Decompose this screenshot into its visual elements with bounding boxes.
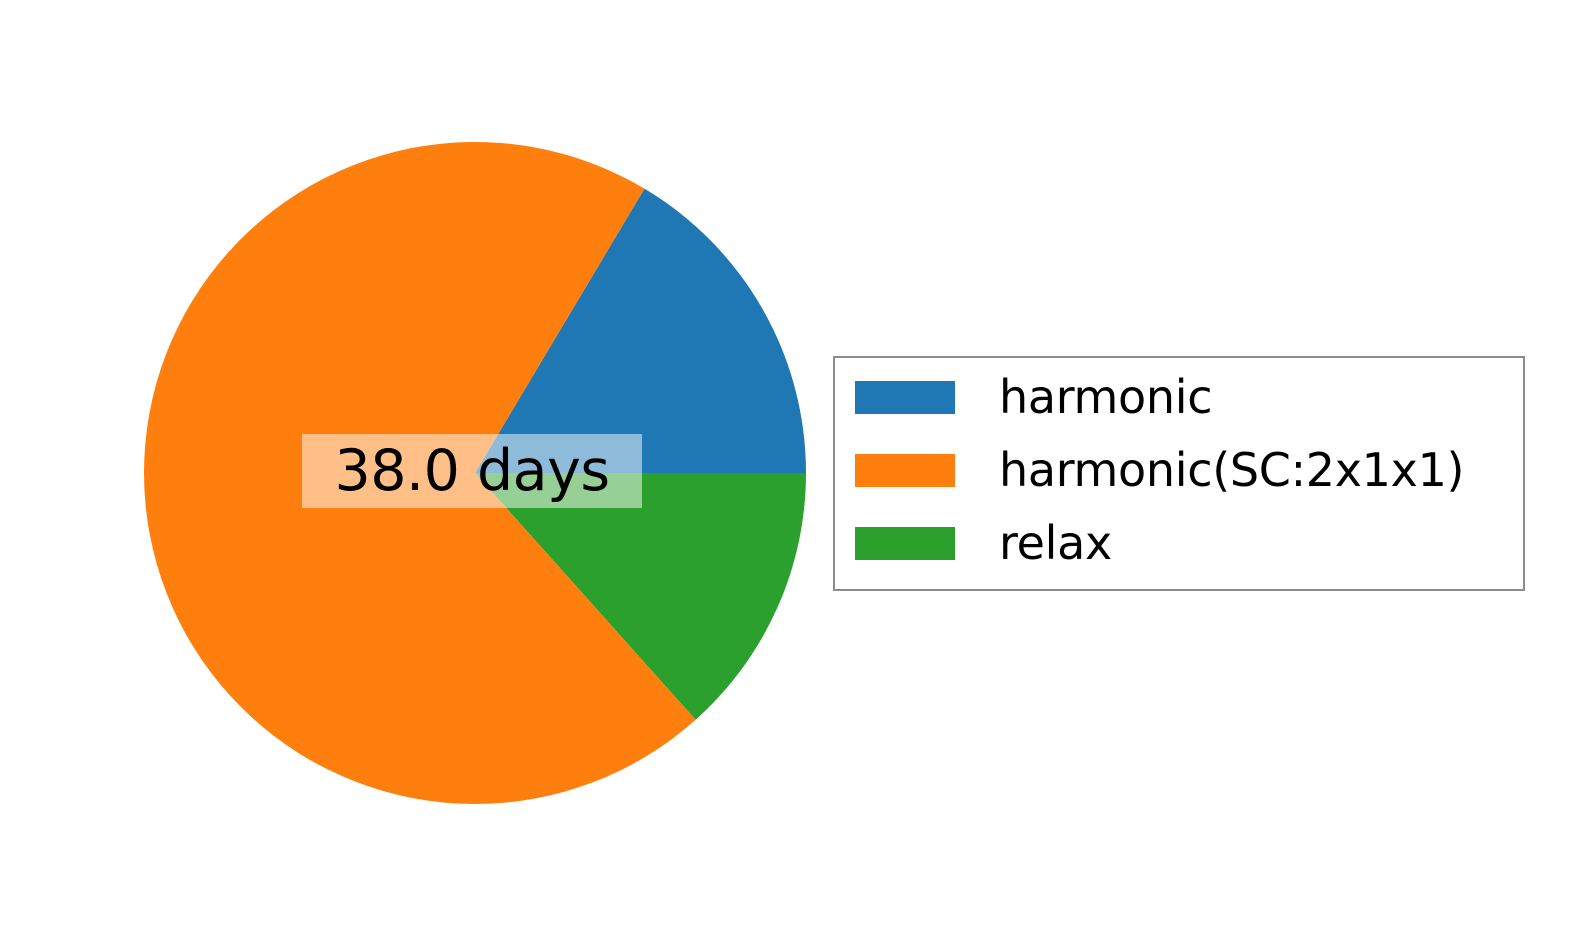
pie-chart-figure: 38.0 days harmonic harmonic(SC:2x1x1) re… [0, 0, 1584, 951]
legend-entry-relax[interactable]: relax [855, 526, 1112, 560]
legend-swatch-icon-harmonic [855, 381, 955, 414]
legend-box: harmonic harmonic(SC:2x1x1) relax [833, 356, 1525, 591]
legend-entry-harmonic-sc[interactable]: harmonic(SC:2x1x1) [855, 453, 1464, 487]
legend-items: harmonic harmonic(SC:2x1x1) relax [835, 358, 1523, 589]
legend-swatch-icon-relax [855, 527, 955, 560]
legend-label-harmonic-sc: harmonic(SC:2x1x1) [999, 447, 1464, 493]
legend-entry-harmonic[interactable]: harmonic [855, 380, 1212, 414]
legend-label-harmonic: harmonic [999, 374, 1212, 420]
legend-label-relax: relax [999, 520, 1112, 566]
center-total-label: 38.0 days [302, 434, 642, 508]
legend-swatch-icon-harmonic-sc [855, 454, 955, 487]
